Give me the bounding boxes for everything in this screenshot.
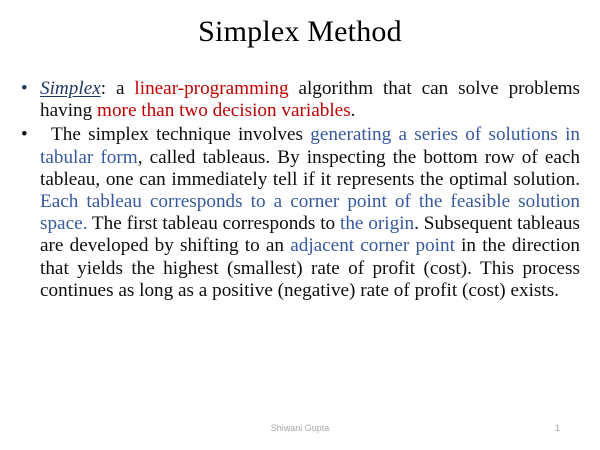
slide-page-number: 1 [555, 422, 560, 434]
list-item: • The simplex technique involves generat… [14, 124, 580, 302]
highlight-adjacent-corner-point: adjacent corner point [290, 235, 455, 256]
slide-body: • Simplex: a linear-programming algorith… [14, 78, 580, 304]
list-item: • Simplex: a linear-programming algorith… [14, 78, 580, 122]
highlight-the-origin: the origin [340, 213, 414, 234]
bullet-point-icon: • [21, 124, 28, 146]
slide-footer: Shiwani Gupta 1 [0, 422, 600, 436]
bullet-one-period: . [351, 100, 356, 121]
slide: Simplex Method • Simplex: a linear-progr… [0, 0, 600, 450]
bullet-two-paragraph: The simplex technique involves generatin… [40, 124, 580, 302]
bullet-one-paragraph: Simplex: a linear-programming algorithm … [40, 78, 580, 122]
highlight-linear-programming: linear-programming [134, 78, 288, 99]
bullet-two-mid-two: The first tableau corresponds to [87, 213, 340, 234]
bullet-one-after-term: : a [101, 78, 135, 99]
page-title: Simplex Method [0, 14, 600, 50]
bullet-point-icon: • [21, 78, 28, 100]
highlight-decision-variables: more than two decision variables [97, 100, 351, 121]
bullet-two-lead: The simplex technique involves [40, 124, 310, 145]
footer-author-name: Shiwani Gupta [0, 422, 600, 434]
term-simplex: Simplex [40, 78, 101, 99]
